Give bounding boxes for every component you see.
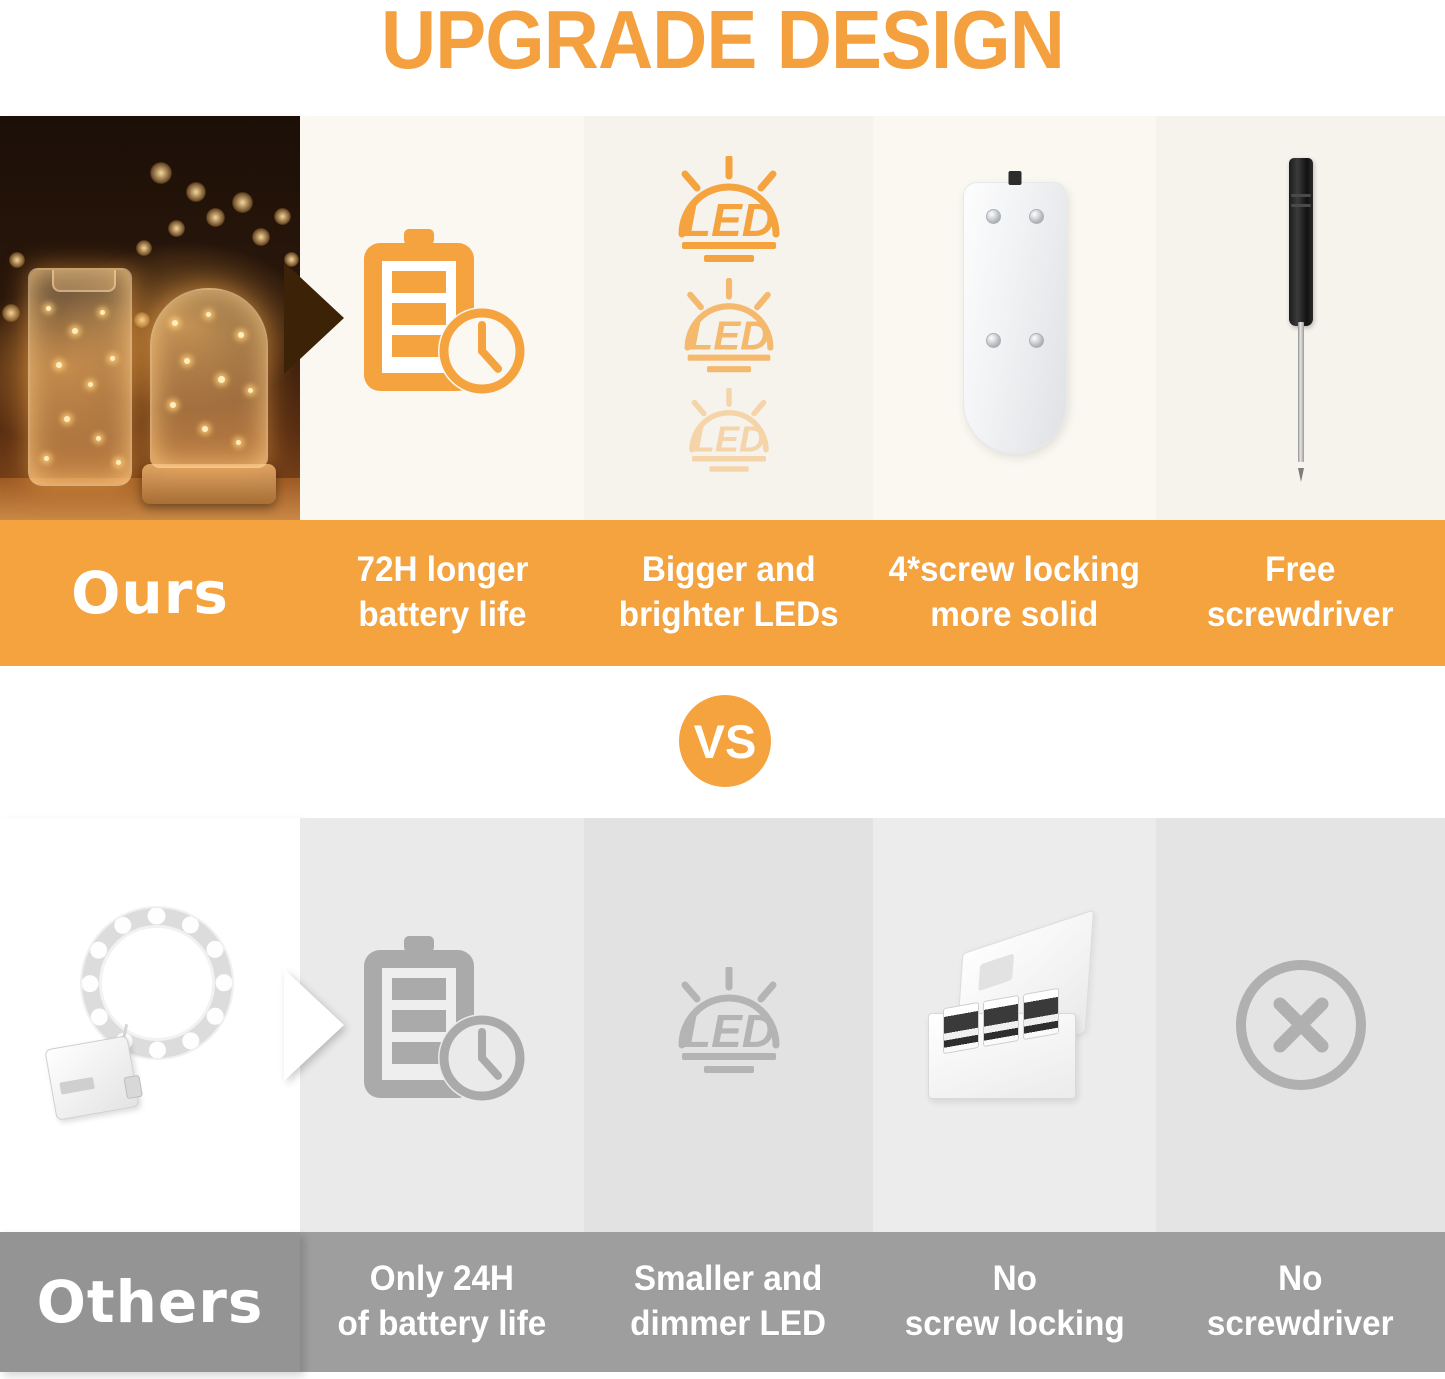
led-lamp-icon: LED [654,967,804,1083]
others-label-bar: Others Only 24H of battery life Smaller … [0,1232,1445,1372]
fairy-lights-jar-scene [0,116,300,520]
open-battery-box-icon [920,935,1110,1115]
battery-clock-icon [342,223,542,413]
others-cell-led: LED [584,818,873,1232]
others-cell-case [873,818,1156,1232]
small-battery-box [44,1035,139,1120]
ours-cell-screwdriver [1156,116,1445,520]
led-lamp-icon-bright: LED [654,156,804,272]
string-light-coil-scene [0,818,300,1232]
screwdriver-icon [1288,158,1314,478]
led-lamp-icon-dim: LED [670,388,788,480]
led-lamp-stack-icon: LED LED [654,156,804,480]
ours-label-bar: Ours 72H longer battery life Bigger and … [0,520,1445,666]
vs-badge: VS [679,695,771,787]
led-lamp-icon-medium: LED [663,278,795,382]
jar-right [150,288,268,468]
ours-label-led: Bigger and brighter LEDs [584,520,873,666]
ours-icon-row: LED LED [0,116,1445,520]
ours-cell-led: LED LED [584,116,873,520]
vs-label: VS [694,714,757,769]
led-label: LED [688,312,769,358]
led-label: LED [683,1005,775,1057]
others-label-battery: Only 24H of battery life [300,1232,584,1372]
ours-cell-case [873,116,1156,520]
ours-brand-label: Ours [71,559,229,627]
others-brand-label: Others [37,1268,264,1336]
x-circle-icon [1226,950,1376,1100]
wire-coil [82,908,232,1058]
battery-clock-icon [342,930,542,1120]
right-arrow-white-icon [284,969,344,1081]
others-label-screws: No screw locking [873,1232,1156,1372]
others-label-led: Smaller and dimmer LED [584,1232,873,1372]
right-arrow-dark-icon [284,262,344,374]
page-title: UPGRADE DESIGN [58,0,1387,83]
others-brand-cell: Others [0,1232,300,1372]
screw-locked-battery-case-icon [963,182,1067,454]
others-cell-no-screwdriver [1156,818,1445,1232]
ours-label-screwdriver: Free screwdriver [1156,520,1445,666]
others-product-photo [0,818,300,1232]
upgrade-design-comparison-infographic: UPGRADE DESIGN [0,0,1445,1379]
ours-brand-cell: Ours [0,520,300,666]
led-label: LED [683,194,775,246]
led-label: LED [692,418,764,459]
ours-label-screws: 4*screw locking more solid [873,520,1156,666]
ours-product-photo [0,116,300,520]
jar-left [28,268,132,486]
ours-label-battery: 72H longer battery life [300,520,584,666]
others-icon-row: LED [0,818,1445,1232]
others-label-screwdriver: No screwdriver [1156,1232,1445,1372]
